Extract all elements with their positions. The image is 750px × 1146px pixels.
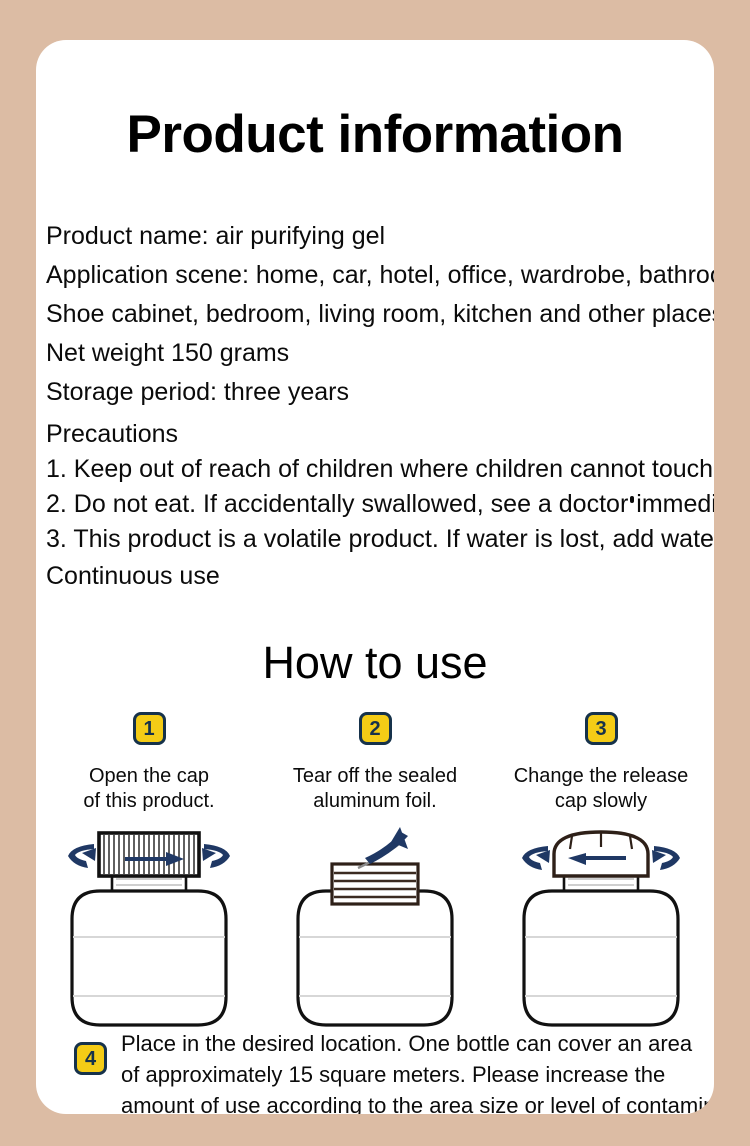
rotate-arrow-right-icon <box>652 846 680 870</box>
step-3-badge: 3 <box>585 712 618 745</box>
precaution-item-2-part-a: 2. Do not eat. If accidentally swallowed… <box>46 490 628 518</box>
precaution-item-3: 3. This product is a volatile product. I… <box>46 522 714 557</box>
info-card: Product information Product name: air pu… <box>36 40 714 1114</box>
spec-line-product-name: Product name: air purifying gel <box>46 217 714 256</box>
step-3-figure <box>506 824 696 1047</box>
rotate-arrow-left-icon <box>522 846 550 870</box>
spec-line-net-weight: Net weight 150 grams <box>46 334 714 373</box>
step-2: 2 Tear off the sealed aluminum foil. <box>272 712 478 1047</box>
step-4-line2: of approximately 15 square meters. Pleas… <box>121 1059 714 1090</box>
step-1: 1 Open the cap of this product. <box>46 712 252 1047</box>
spec-line-application-scene: Application scene: home, car, hotel, off… <box>46 256 714 295</box>
page-title: Product information <box>36 108 714 161</box>
bottle-with-dome-cap-icon <box>506 824 696 1042</box>
step-2-caption-line2: aluminum foil. <box>293 789 457 814</box>
rotate-arrow-right-icon <box>202 844 230 868</box>
step-3-caption-line1: Change the release <box>514 764 689 789</box>
spec-line-storage-period: Storage period: three years <box>46 373 714 412</box>
product-information-page: Product information Product name: air pu… <box>0 0 750 1146</box>
bottle-with-foil-peel-icon <box>280 824 470 1042</box>
step-4-text: Place in the desired location. One bottl… <box>121 1028 714 1114</box>
step-2-caption: Tear off the sealed aluminum foil. <box>293 764 457 814</box>
precaution-item-2-part-b: immediately <box>636 490 714 518</box>
step-1-caption: Open the cap of this product. <box>83 764 214 814</box>
rotate-arrow-left-icon <box>68 844 96 868</box>
spec-line-application-scene-cont: Shoe cabinet, bedroom, living room, kitc… <box>46 295 714 334</box>
precaution-item-1: 1. Keep out of reach of children where c… <box>46 452 714 487</box>
step-1-caption-line1: Open the cap <box>83 764 214 789</box>
step-1-badge: 1 <box>133 712 166 745</box>
step-4-line3: amount of use according to the area size… <box>121 1090 714 1114</box>
bottle-with-ribbed-cap-icon <box>54 824 244 1042</box>
specifications-list: Product name: air purifying gel Applicat… <box>46 217 714 412</box>
how-to-use-steps: 1 Open the cap of this product. <box>36 712 714 1047</box>
precaution-item-3-cont: Continuous use <box>46 557 714 595</box>
precautions-section: Precautions 1. Keep out of reach of chil… <box>46 416 714 595</box>
step-2-badge: 2 <box>359 712 392 745</box>
step-1-figure <box>54 824 244 1047</box>
card-inner: Product information Product name: air pu… <box>36 40 714 1114</box>
step-1-caption-line2: of this product. <box>83 789 214 814</box>
step-4-line1: Place in the desired location. One bottl… <box>121 1028 714 1059</box>
stray-apostrophe-mark <box>630 496 634 503</box>
step-2-figure <box>280 824 470 1047</box>
precaution-item-2: 2. Do not eat. If accidentally swallowed… <box>46 487 714 522</box>
step-3-caption-line2: cap slowly <box>514 789 689 814</box>
step-2-caption-line1: Tear off the sealed <box>293 764 457 789</box>
how-to-use-title: How to use <box>36 638 714 688</box>
step-3-caption: Change the release cap slowly <box>514 764 689 814</box>
step-4: 4 Place in the desired location. One bot… <box>74 1028 704 1114</box>
step-3: 3 Change the release cap slowly <box>498 712 704 1047</box>
step-4-badge: 4 <box>74 1042 107 1075</box>
peel-up-arrow-icon <box>365 827 408 864</box>
precautions-heading: Precautions <box>46 416 714 452</box>
